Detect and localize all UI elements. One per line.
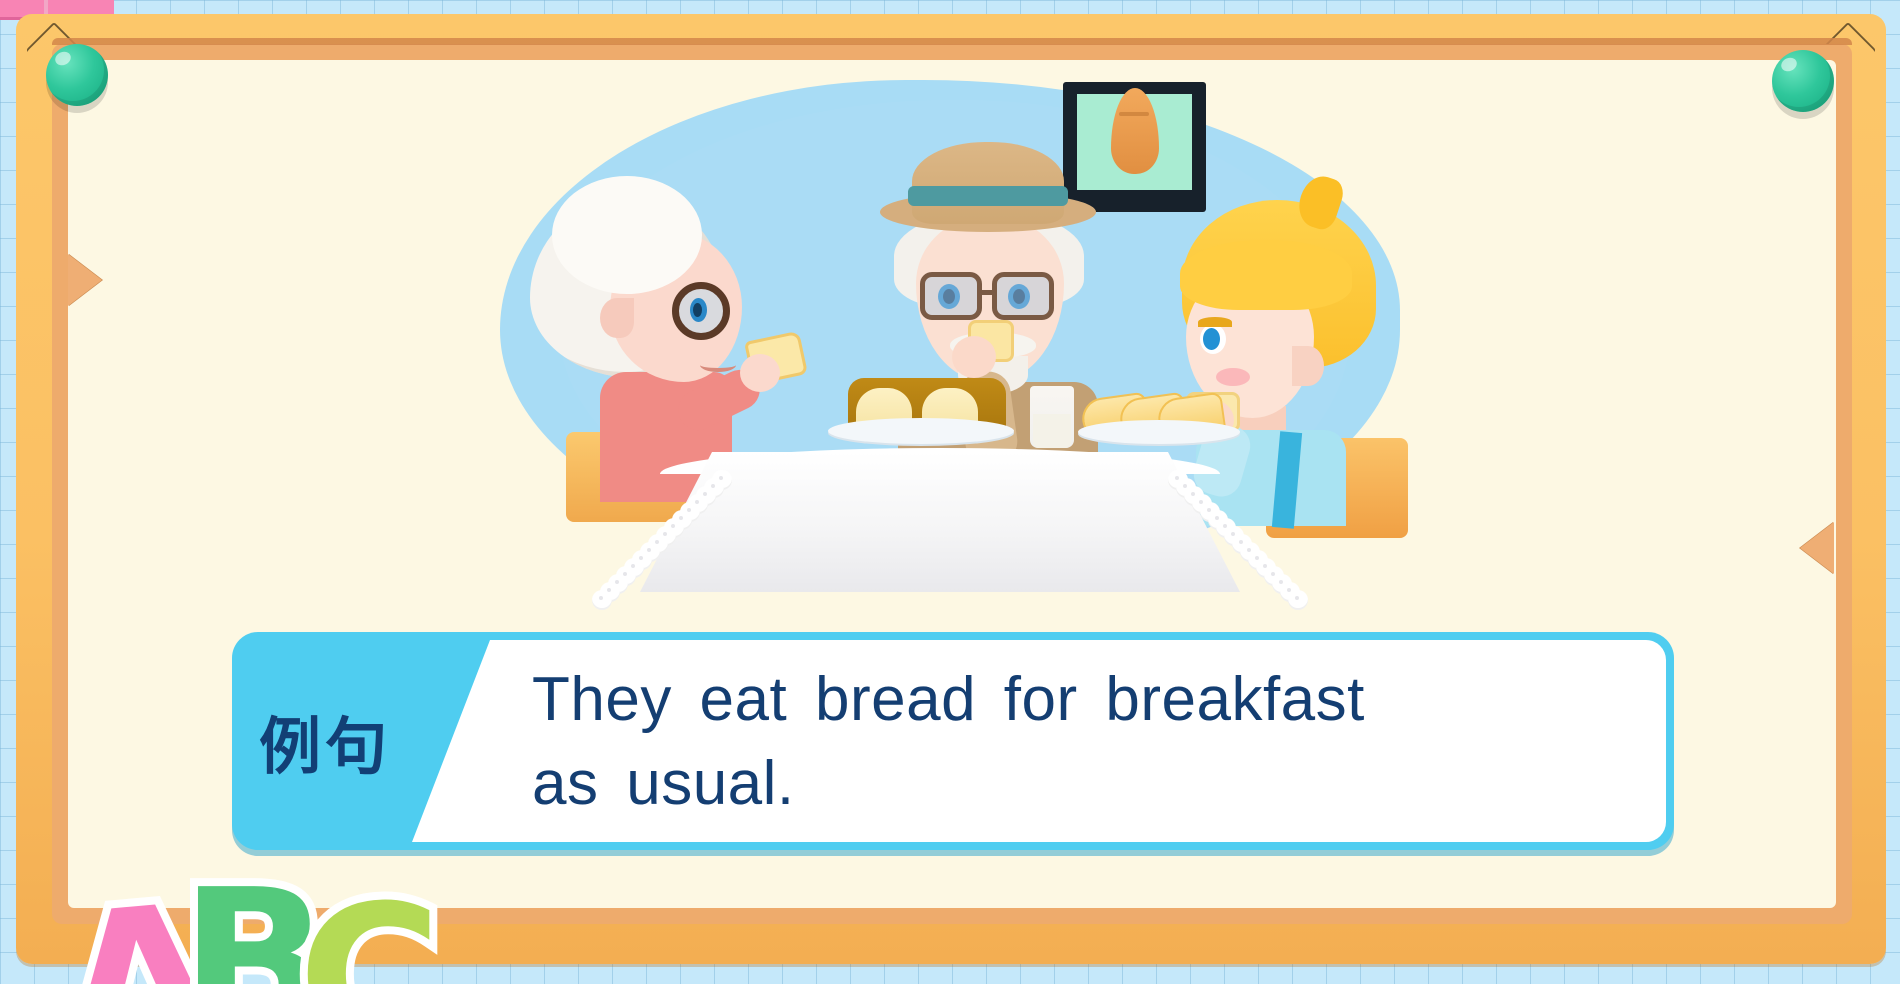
frame-notch-right-icon: [1800, 522, 1834, 574]
lace-scallop: [592, 590, 612, 610]
lace-dot: [1191, 492, 1195, 496]
lace-dot: [1239, 540, 1243, 544]
grandmother-ear: [600, 298, 634, 338]
grandmother-hair-top: [552, 176, 702, 294]
grandfather-hat-crown: [912, 142, 1064, 224]
lace-dot: [1295, 596, 1299, 600]
lace-dot: [1223, 524, 1227, 528]
sentence-line-1: They eat bread for breakfast: [532, 658, 1622, 742]
glass-of-milk: [1030, 386, 1074, 448]
plate: [1078, 420, 1240, 444]
grandfather-glasses-right-icon: [992, 272, 1054, 320]
lace-dot: [1231, 532, 1235, 536]
plate: [828, 418, 1014, 444]
wall-picture-frame: [1063, 82, 1206, 212]
grandmother-eye: [690, 298, 707, 322]
boy-blush: [1216, 368, 1250, 386]
letter-c: C: [298, 880, 442, 984]
push-pin-icon: [46, 44, 108, 106]
lace-dot: [1279, 580, 1283, 584]
grandfather-hat-band: [908, 186, 1068, 206]
grandfather-hand: [952, 336, 996, 378]
grandmother-mouth: [700, 358, 736, 372]
lace-dot: [1271, 572, 1275, 576]
lace-dot: [1207, 508, 1211, 512]
example-sentence-text: They eat bread for breakfast as usual.: [532, 658, 1622, 825]
example-sentence-label: 例句: [232, 632, 418, 850]
lace-dot: [1199, 500, 1203, 504]
lace-dot: [1255, 556, 1259, 560]
boy-eye: [1200, 324, 1226, 354]
boy-ear: [1292, 346, 1324, 386]
lace-dot: [1287, 588, 1291, 592]
example-sentence-card[interactable]: 例句 They eat bread for breakfast as usual…: [232, 632, 1674, 850]
frame-notch-left-icon: [68, 254, 102, 306]
lace-dot: [1247, 548, 1251, 552]
grandmother-hand: [740, 354, 780, 392]
grandfather-glasses-left-icon: [920, 272, 982, 320]
grandfather-glasses-bridge: [980, 290, 996, 295]
sentence-line-2: as usual.: [532, 742, 1622, 826]
lace-dot: [1263, 564, 1267, 568]
wall-picture-mat: [1077, 94, 1192, 190]
lace-scallop: [1288, 590, 1308, 610]
wall-picture-tree-icon: [1111, 88, 1159, 174]
lace-dot: [1183, 484, 1187, 488]
lace-dot: [1175, 476, 1179, 480]
push-pin-icon: [1772, 50, 1834, 112]
lace-dot: [1215, 516, 1219, 520]
abc-letters-decoration: A B C: [30, 872, 360, 984]
boy-fringe: [1180, 240, 1352, 310]
lace-dot: [599, 596, 603, 600]
